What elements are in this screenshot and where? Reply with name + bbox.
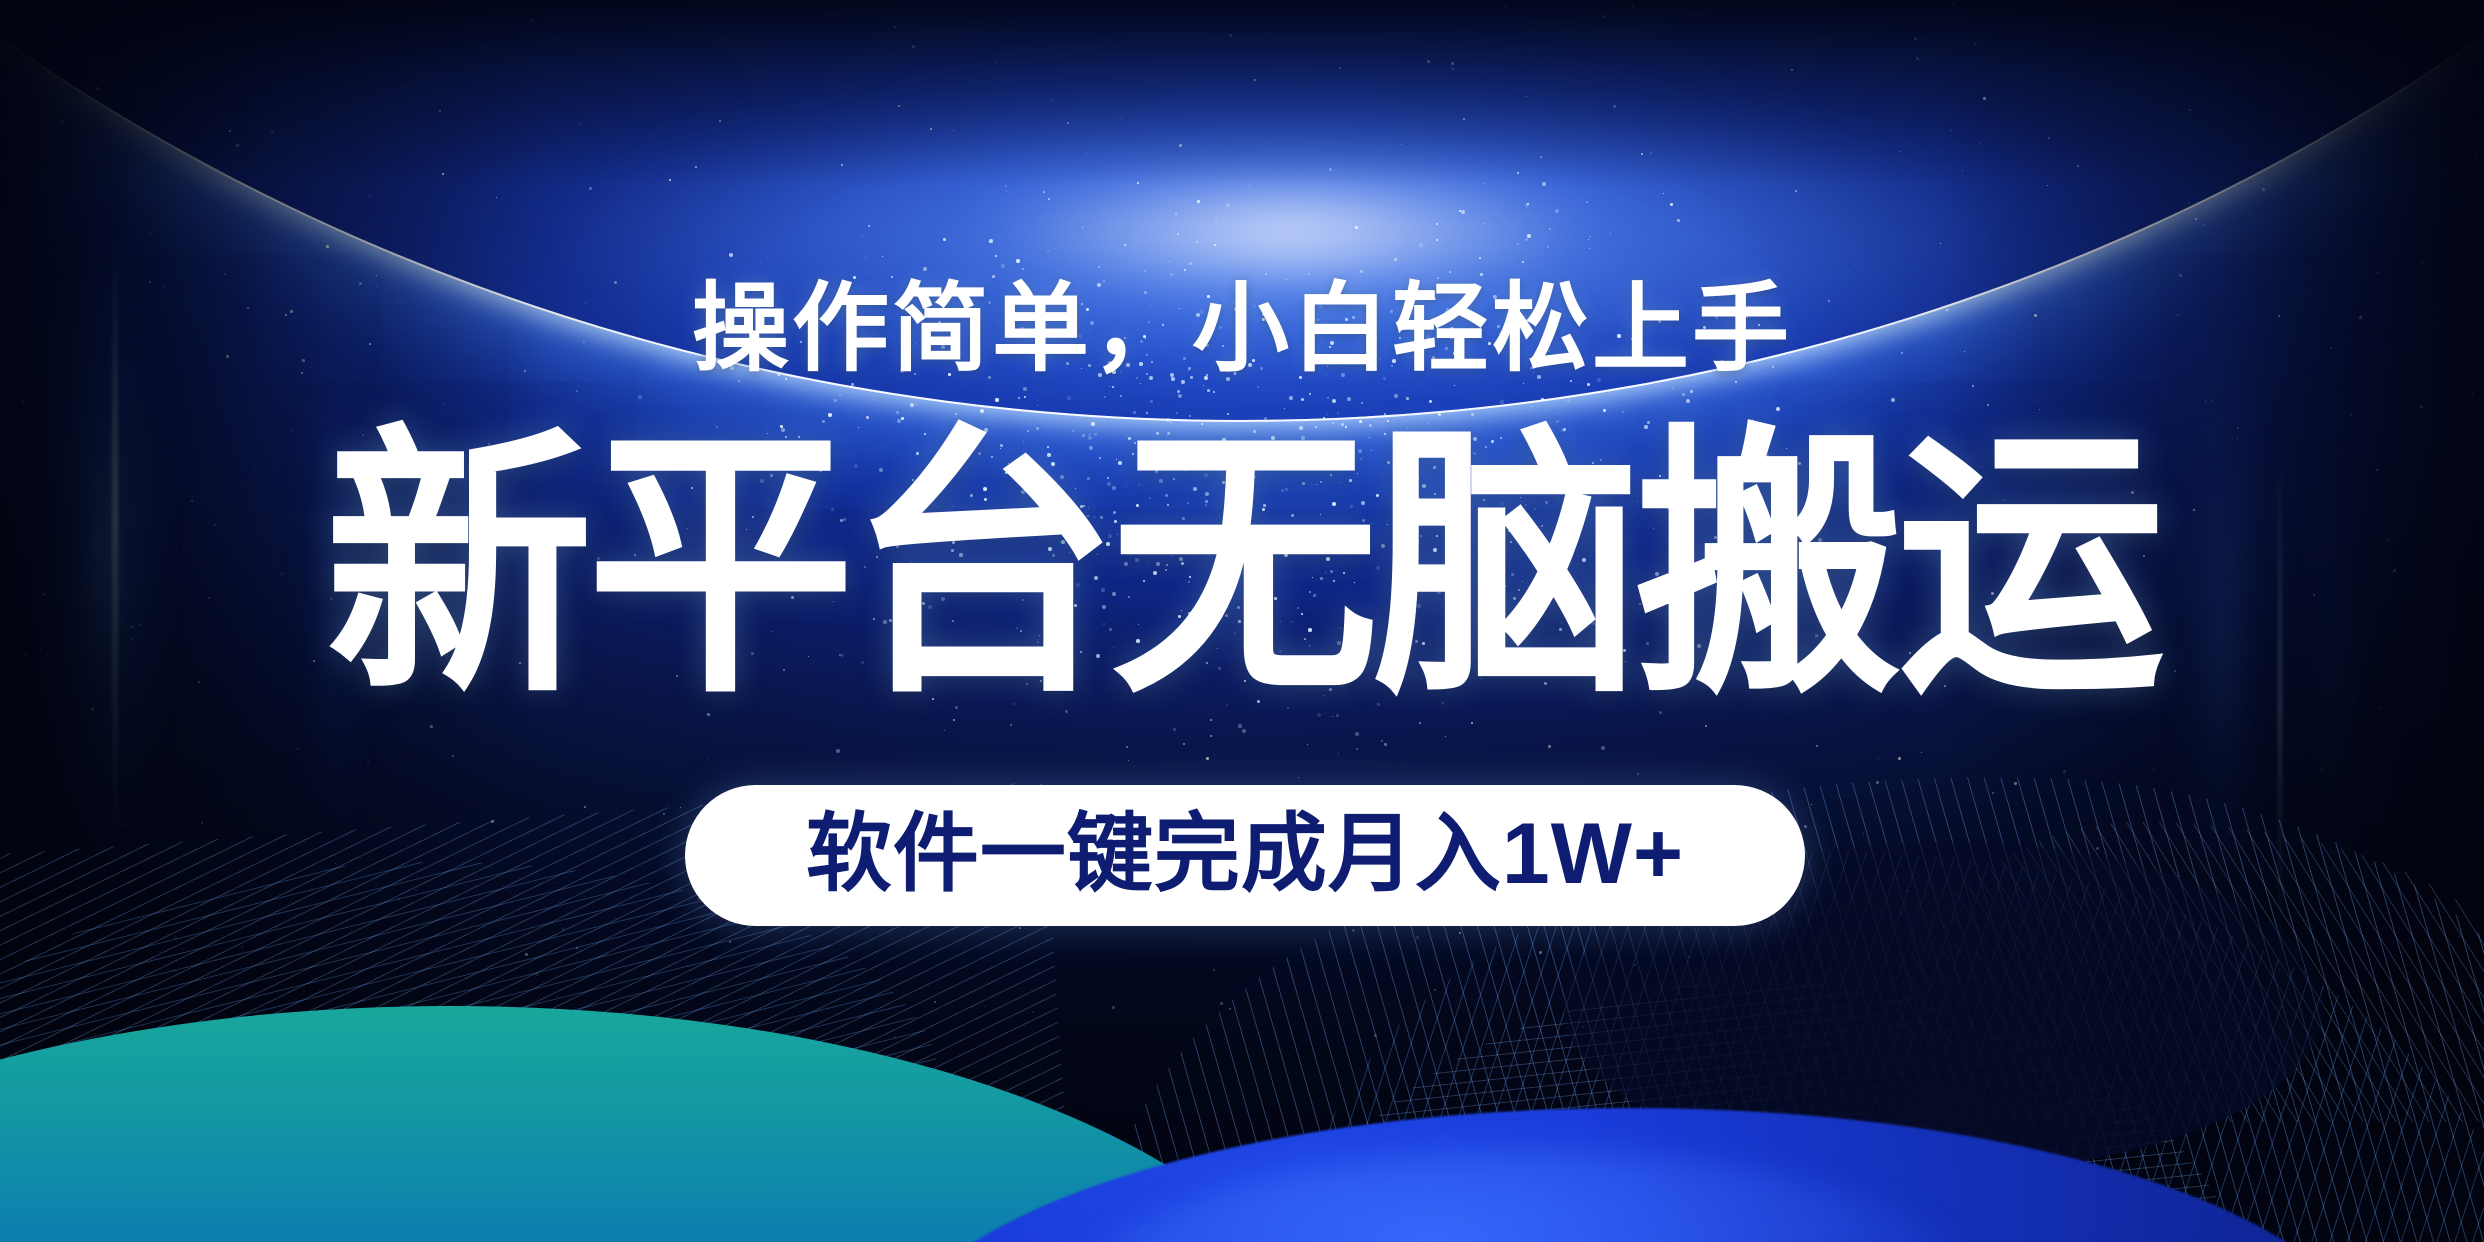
- cta-pill[interactable]: 软件一键完成月入1W+: [685, 785, 1805, 926]
- promo-banner: 操作简单，小白轻松上手 新平台无脑搬运 软件一键完成月入1W+: [0, 0, 2484, 1242]
- banner-content: 操作简单，小白轻松上手 新平台无脑搬运 软件一键完成月入1W+: [0, 0, 2484, 1242]
- subline-text: 操作简单，小白轻松上手: [0, 278, 2484, 380]
- cta-pill-label: 软件一键完成月入1W+: [806, 811, 1684, 897]
- headline-text: 新平台无脑搬运: [0, 424, 2484, 708]
